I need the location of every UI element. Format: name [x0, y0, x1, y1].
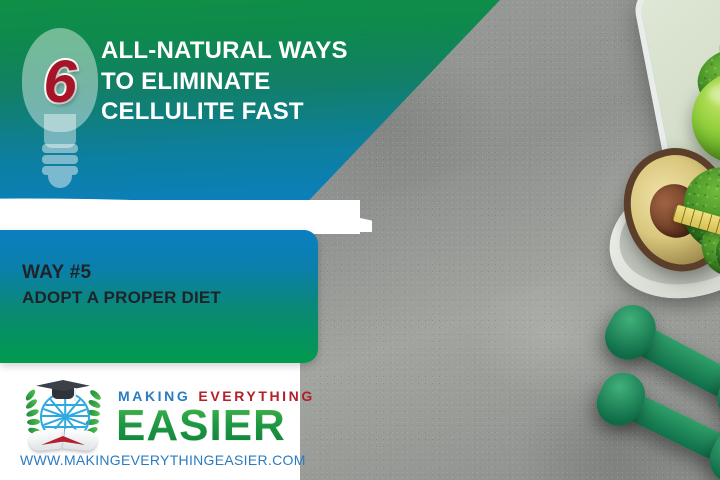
title-line-2: TO ELIMINATE — [101, 67, 369, 98]
logo-word-easier: EASIER — [116, 404, 286, 448]
title-line-3: CELLULITE FAST — [101, 97, 369, 128]
apple-highlight — [708, 84, 720, 104]
bulb-thread — [42, 144, 78, 153]
way-title: ADOPT A PROPER DIET — [22, 288, 221, 308]
tip-number: 6 — [18, 52, 102, 112]
page-title: ALL-NATURAL WAYS TO ELIMINATE CELLULITE … — [101, 36, 369, 128]
way-card: WAY #5 ADOPT A PROPER DIET — [0, 230, 318, 363]
lightbulb-icon: 6 — [18, 28, 102, 178]
header-white-gap — [0, 200, 360, 234]
brand-logo[interactable]: MAKINGEVERYTHING EASIER WWW.MAKINGEVERYT… — [18, 382, 318, 474]
bulb-neck — [44, 114, 76, 148]
way-number-label: WAY #5 — [22, 262, 91, 284]
infographic-canvas: 20 10 kg — [0, 0, 720, 480]
website-url[interactable]: WWW.MAKINGEVERYTHINGEASIER.COM — [20, 452, 306, 468]
title-line-1: ALL-NATURAL WAYS — [101, 36, 369, 67]
open-book-icon — [29, 430, 97, 452]
globe-graduation-cap-book-icon — [24, 382, 102, 456]
bulb-thread — [42, 155, 78, 164]
bulb-thread — [42, 166, 78, 175]
graduation-cap-icon — [36, 380, 90, 396]
